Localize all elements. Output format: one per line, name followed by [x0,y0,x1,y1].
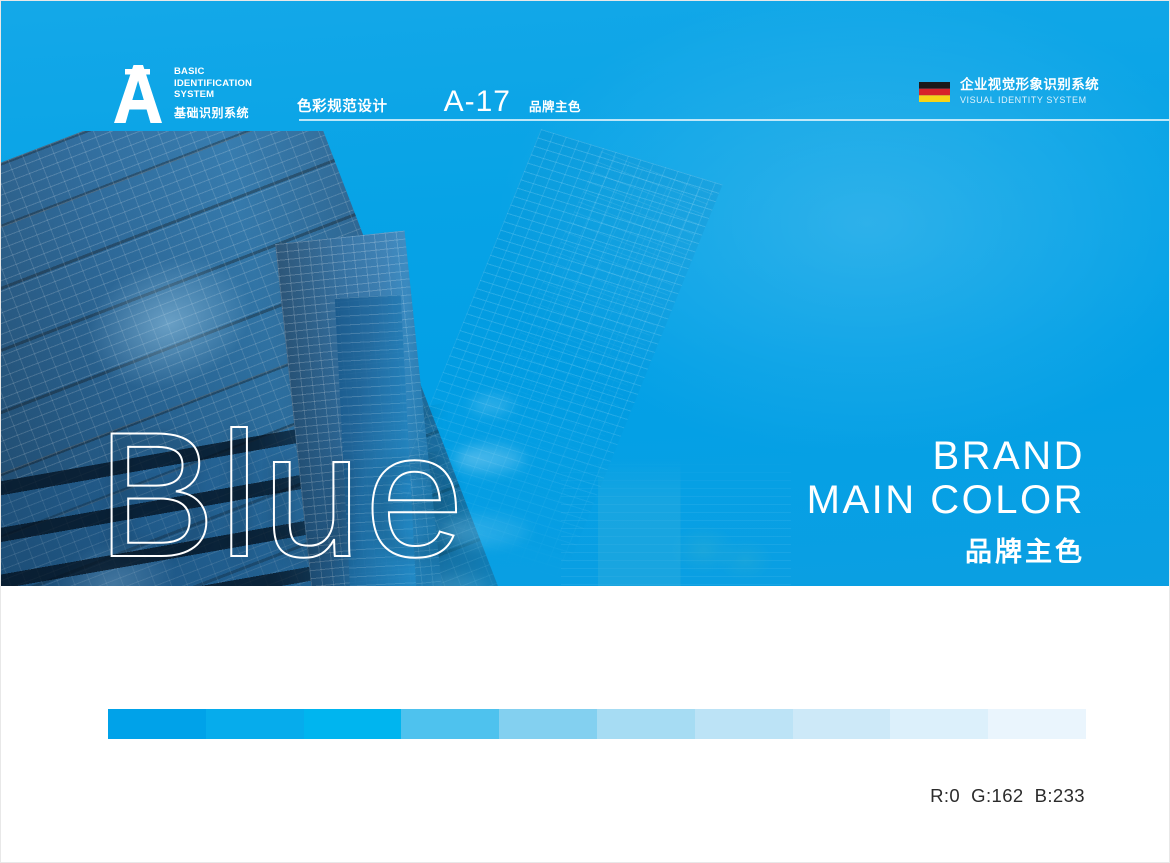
vis-identity-en: VISUAL IDENTITY SYSTEM [960,95,1099,106]
color-spec-page: Blue BRAND MAIN COLOR 品牌主色 BASIC IDENTIF… [0,0,1170,863]
color-tint-scale [108,709,1086,739]
color-swatch-tint-20 [890,709,988,739]
page-header: BASIC IDENTIFICATION SYSTEM 基础识别系统 色彩规范设… [1,1,1170,131]
color-spec-values: C:100 M:0 Y:0 K:0 R:0 G:162 B:233 [912,649,1085,863]
hero-word-blue: Blue [97,406,468,584]
header-page-subtitle: 品牌主色 [529,96,581,115]
logo-en-line1: BASIC [174,66,252,78]
brand-main-color-block: BRAND MAIN COLOR 品牌主色 [807,435,1085,569]
hero-banner: Blue BRAND MAIN COLOR 品牌主色 BASIC IDENTIF… [1,1,1170,586]
brand-title-line2: MAIN COLOR [807,478,1085,523]
color-swatch-tint-70 [401,709,499,739]
color-swatch-tint-10 [988,709,1086,739]
brand-title-chinese: 品牌主色 [807,530,1085,569]
vis-identity-cn: 企业视觉形象识别系统 [960,77,1099,94]
color-swatch-tint-90 [206,709,304,739]
header-right-text: 企业视觉形象识别系统 VISUAL IDENTITY SYSTEM [960,77,1099,106]
color-swatch-tint-100 [108,709,206,739]
header-page-code: A-17 [444,85,511,119]
letter-a-logo-icon [109,63,165,125]
german-flag-icon [919,82,950,102]
logo-en-line3: SYSTEM [174,89,252,101]
color-swatch-tint-30 [793,709,891,739]
header-center: 色彩规范设计 A-17 品牌主色 [297,85,581,119]
logo-cn: 基础识别系统 [174,104,252,121]
color-swatch-tint-40 [695,709,793,739]
header-right: 企业视觉形象识别系统 VISUAL IDENTITY SYSTEM [919,77,1099,106]
header-divider [299,119,1170,121]
rgb-values: R:0 G:162 B:233 [912,783,1085,810]
brand-title-line1: BRAND [807,435,1085,478]
logo-block[interactable]: BASIC IDENTIFICATION SYSTEM 基础识别系统 [109,63,252,125]
logo-en-line2: IDENTIFICATION [174,78,252,90]
header-category: 色彩规范设计 [297,95,388,116]
logo-text: BASIC IDENTIFICATION SYSTEM 基础识别系统 [174,63,252,121]
color-swatch-tint-50 [597,709,695,739]
color-swatch-tint-80 [304,709,402,739]
color-swatch-tint-60 [499,709,597,739]
